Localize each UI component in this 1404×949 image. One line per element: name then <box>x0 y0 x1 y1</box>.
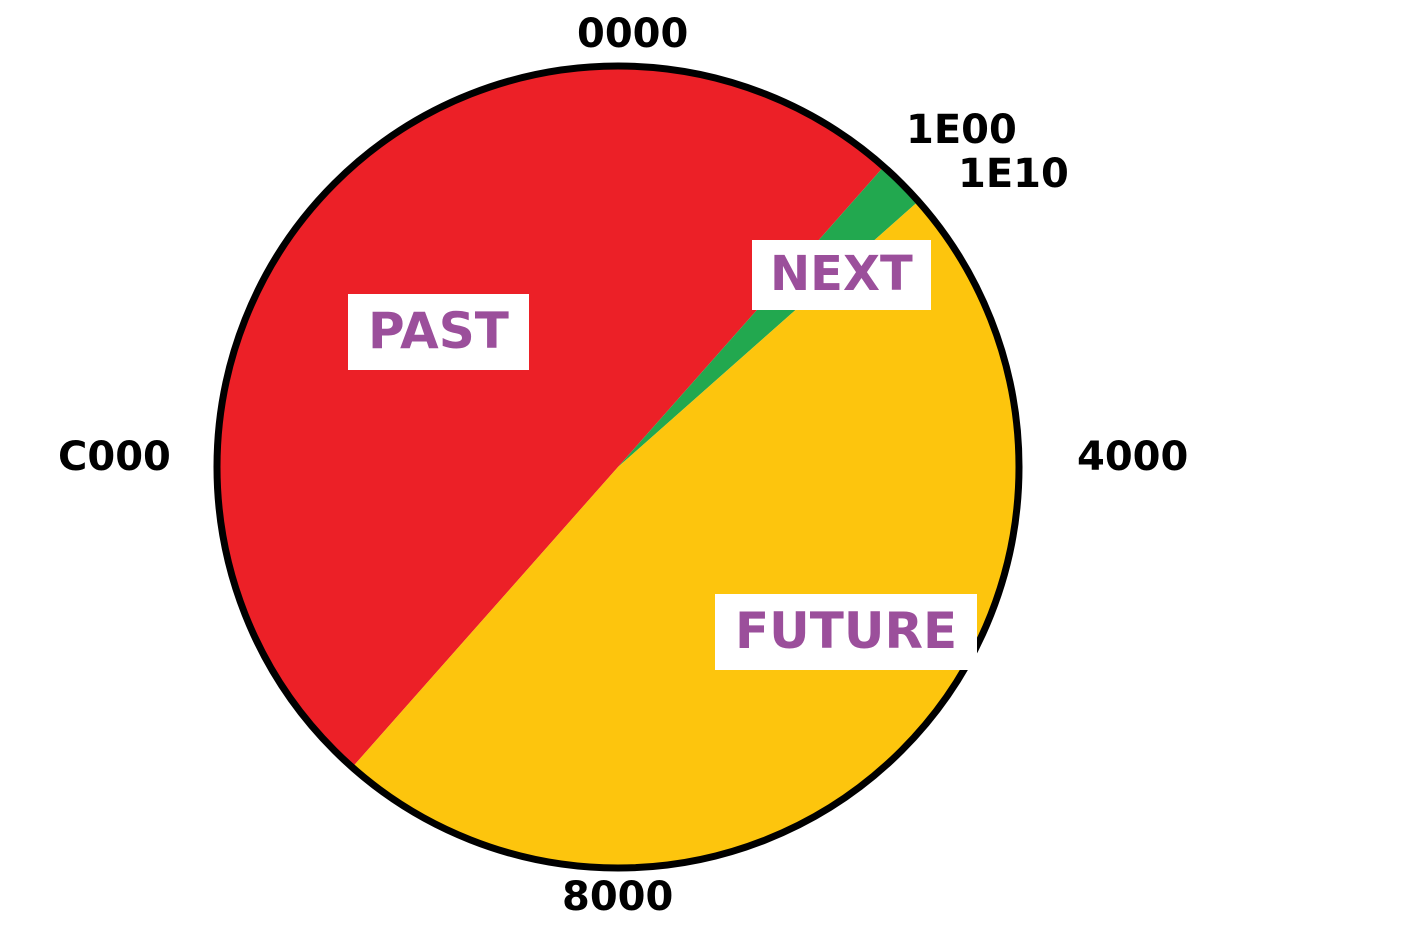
tick-label-1E10: 1E10 <box>958 154 1069 194</box>
wedge-label-future: FUTURE <box>715 594 977 670</box>
tick-label-0000: 0000 <box>577 14 688 54</box>
pie-chart-canvas: 0000 1E00 1E10 4000 8000 C000 PAST NEXT … <box>0 0 1404 949</box>
wedge-label-next: NEXT <box>752 240 931 310</box>
wedge-label-past: PAST <box>348 294 529 370</box>
pie-chart-svg <box>0 0 1404 949</box>
tick-label-8000: 8000 <box>562 877 673 917</box>
tick-label-C000: C000 <box>58 437 171 477</box>
tick-label-4000: 4000 <box>1077 437 1188 477</box>
tick-label-1E00: 1E00 <box>906 110 1017 150</box>
